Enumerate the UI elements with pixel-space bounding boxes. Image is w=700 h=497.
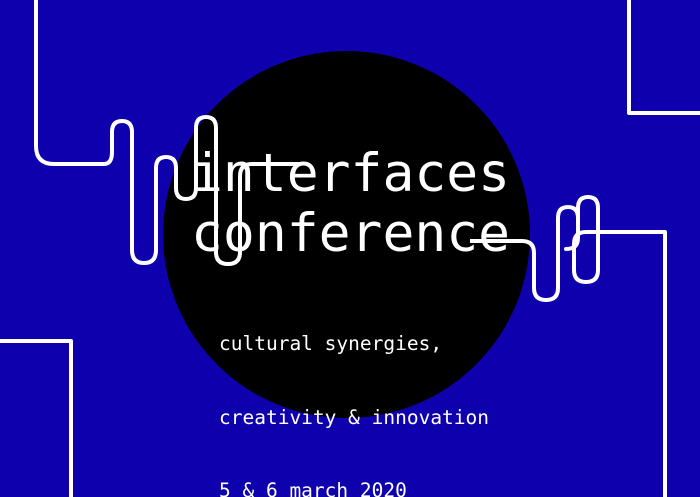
top-right-bracket [629, 0, 700, 113]
footer-bar: inter faces [0, 435, 700, 497]
subtitle-line-1: cultural synergies, [219, 332, 489, 357]
subtitle-line-2: creativity & innovation [219, 406, 489, 431]
title-line-2: conference [191, 207, 510, 260]
title-line-1: interfaces [191, 147, 510, 200]
poster-canvas: interfaces conference cultural synergies… [0, 0, 700, 497]
top-left-bracket [36, 0, 96, 164]
